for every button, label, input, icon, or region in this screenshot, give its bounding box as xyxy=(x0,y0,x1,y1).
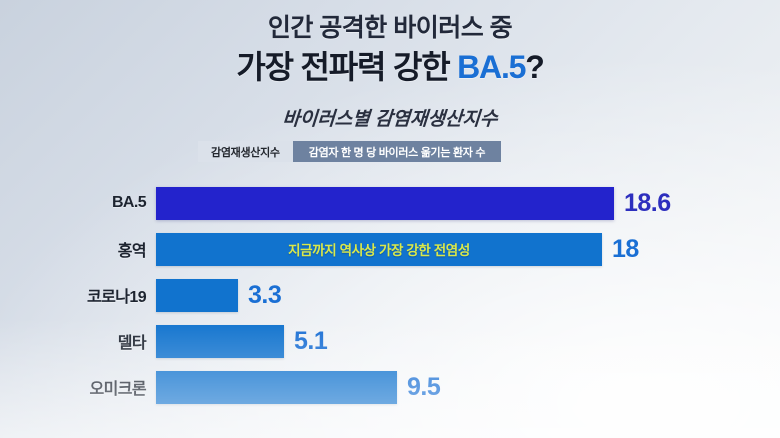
category-label-covid19: 코로나19 xyxy=(0,283,156,307)
headline-accent-ba5: BA.5 xyxy=(457,49,525,85)
category-label-ba5: BA.5 xyxy=(0,194,156,212)
bar-area: 18.6 xyxy=(156,187,780,220)
bar-area: 지금까지 역사상 가장 강한 전염성 18 xyxy=(156,233,780,266)
bar-area: 3.3 xyxy=(156,279,780,312)
legend-key-label: 감염재생산지수 xyxy=(198,141,293,162)
bar-row: BA.5 18.6 xyxy=(0,180,780,226)
bar-measles: 지금까지 역사상 가장 강한 전염성 xyxy=(156,233,602,266)
category-label-delta: 델타 xyxy=(0,329,156,353)
bar-value-delta: 5.1 xyxy=(294,329,327,354)
headline-line-2: 가장 전파력 강한 BA.5? xyxy=(0,49,780,86)
bar-value-covid19: 3.3 xyxy=(248,283,281,308)
bar-covid19 xyxy=(156,279,238,312)
headline-question-mark: ? xyxy=(525,49,543,85)
headline-prefix: 가장 전파력 강한 xyxy=(236,49,457,85)
category-label-omicron: 오미크론 xyxy=(0,375,156,399)
bar-area: 5.1 xyxy=(156,325,780,358)
bar-value-omicron: 9.5 xyxy=(407,375,440,400)
bar-value-measles: 18 xyxy=(612,237,639,262)
bar-area: 9.5 xyxy=(156,371,780,404)
bar-row: 오미크론 9.5 xyxy=(0,364,780,410)
headline-block: 인간 공격한 바이러스 중 가장 전파력 강한 BA.5? xyxy=(0,14,780,86)
bar-value-ba5: 18.6 xyxy=(624,191,671,216)
bar-omicron xyxy=(156,371,397,404)
bar-delta xyxy=(156,325,284,358)
infographic-canvas: 인간 공격한 바이러스 중 가장 전파력 강한 BA.5? 바이러스별 감염재생… xyxy=(0,0,780,438)
bar-row: 델타 5.1 xyxy=(0,318,780,364)
bar-chart: BA.5 18.6 홍역 지금까지 역사상 가장 강한 전염성 18 코로나19 xyxy=(0,180,780,410)
bar-row: 홍역 지금까지 역사상 가장 강한 전염성 18 xyxy=(0,226,780,272)
bar-ba5 xyxy=(156,187,614,220)
category-label-measles: 홍역 xyxy=(0,237,156,261)
bar-annotation: 지금까지 역사상 가장 강한 전염성 xyxy=(288,239,470,259)
legend: 감염재생산지수 감염자 한 명 당 바이러스 옮기는 환자 수 xyxy=(198,141,501,162)
chart-subtitle: 바이러스별 감염재생산지수 xyxy=(0,104,780,131)
legend-description: 감염자 한 명 당 바이러스 옮기는 환자 수 xyxy=(293,141,501,162)
headline-line-1: 인간 공격한 바이러스 중 xyxy=(0,14,780,44)
bar-row: 코로나19 3.3 xyxy=(0,272,780,318)
